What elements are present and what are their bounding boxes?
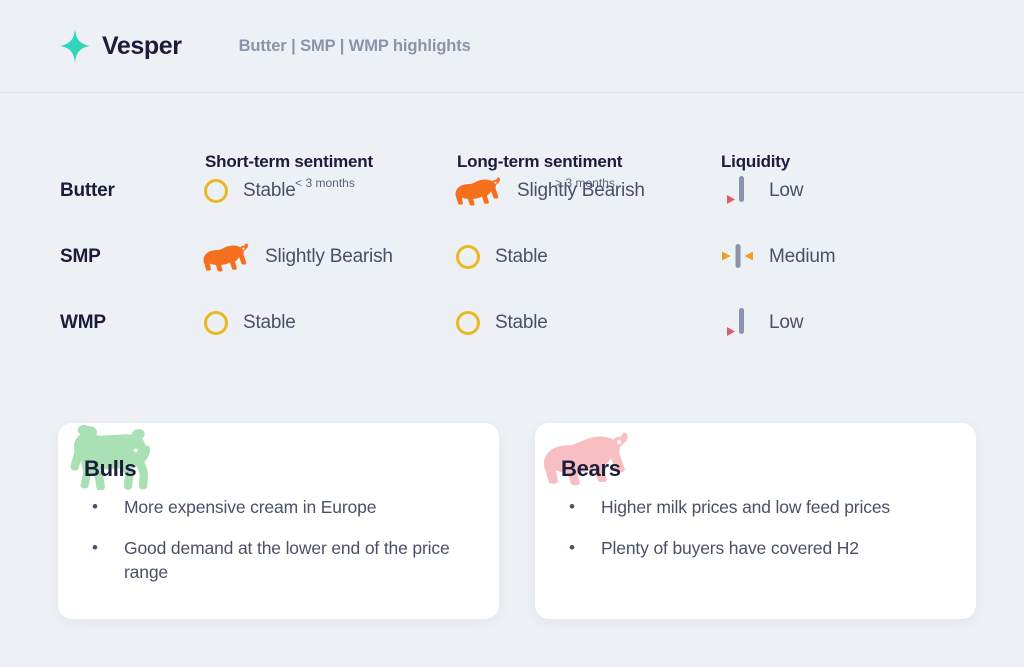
bears-card-title: Bears <box>561 456 621 482</box>
cell-text-butter-short-term: Stable <box>243 180 296 202</box>
row-label-cell: SMP <box>0 246 195 268</box>
bears-item-text: Plenty of buyers have covered H2 <box>601 536 946 561</box>
cell-smp-liquidity: Medium <box>713 235 913 279</box>
bullet-glyph: • <box>563 536 601 560</box>
cell-text-butter-liquidity: Low <box>769 180 803 202</box>
stable-circle-icon <box>455 310 481 336</box>
row-label-butter: Butter <box>60 180 115 201</box>
bulls-card-title: Bulls <box>84 456 136 482</box>
app-header: Vesper Butter | SMP | WMP highlights <box>0 0 1024 93</box>
bullet-glyph: • <box>563 495 601 519</box>
brand-name: Vesper <box>102 34 182 59</box>
cell-butter-short-term: Stable <box>195 169 445 213</box>
cell-wmp-short-term: Stable <box>195 301 445 345</box>
matrix-header-row: Short-term sentiment < 3 months Long-ter… <box>0 93 1024 158</box>
stable-circle-icon <box>203 178 229 204</box>
sparkle-star-icon <box>60 29 90 63</box>
stable-circle-icon <box>203 310 229 336</box>
bears-item-text: Higher milk prices and low feed prices <box>601 495 946 520</box>
table-row: SMP Slightly Bearish Stable <box>0 224 1024 290</box>
insight-cards: Bulls • More expensive cream in Europe •… <box>58 423 976 619</box>
list-item: • More expensive cream in Europe <box>86 495 469 520</box>
cell-text-wmp-liquidity: Low <box>769 312 803 334</box>
header-subtitle: Butter | SMP | WMP highlights <box>239 37 471 56</box>
cell-text-butter-long-term: Slightly Bearish <box>517 180 645 202</box>
cell-wmp-liquidity: Low <box>713 301 913 345</box>
row-label-smp: SMP <box>60 246 101 267</box>
row-label-cell: WMP <box>0 312 195 334</box>
bear-icon <box>455 176 507 206</box>
cell-text-wmp-short-term: Stable <box>243 312 296 334</box>
liquidity-low-icon <box>721 305 753 341</box>
bulls-item-text: Good demand at the lower end of the pric… <box>124 536 469 585</box>
list-item: • Good demand at the lower end of the pr… <box>86 536 469 585</box>
brand-logo[interactable]: Vesper <box>60 29 182 63</box>
bulls-card-list: • More expensive cream in Europe • Good … <box>58 495 499 585</box>
liquidity-medium-icon <box>721 239 753 275</box>
cell-wmp-long-term: Stable <box>445 301 713 345</box>
bullet-glyph: • <box>86 536 124 560</box>
table-row: WMP Stable Stable <box>0 290 1024 356</box>
cell-butter-long-term: Slightly Bearish <box>445 169 713 213</box>
bulls-card-header: Bulls <box>58 423 499 495</box>
row-label-wmp: WMP <box>60 312 106 333</box>
bears-card-list: • Higher milk prices and low feed prices… <box>535 495 976 560</box>
cell-text-smp-long-term: Stable <box>495 246 548 268</box>
bears-card: Bears • Higher milk prices and low feed … <box>535 423 976 619</box>
bullet-glyph: • <box>86 495 124 519</box>
list-item: • Plenty of buyers have covered H2 <box>563 536 946 561</box>
row-label-cell: Butter <box>0 180 195 202</box>
sentiment-matrix: Short-term sentiment < 3 months Long-ter… <box>0 93 1024 356</box>
bears-card-header: Bears <box>535 423 976 495</box>
cell-smp-short-term: Slightly Bearish <box>195 235 445 279</box>
stable-circle-icon <box>455 244 481 270</box>
cell-text-smp-liquidity: Medium <box>769 246 835 268</box>
cell-text-smp-short-term: Slightly Bearish <box>265 246 393 268</box>
bear-icon <box>203 242 255 272</box>
cell-butter-liquidity: Low <box>713 169 913 213</box>
list-item: • Higher milk prices and low feed prices <box>563 495 946 520</box>
liquidity-low-icon <box>721 173 753 209</box>
bulls-card: Bulls • More expensive cream in Europe •… <box>58 423 499 619</box>
cell-smp-long-term: Stable <box>445 235 713 279</box>
cell-text-wmp-long-term: Stable <box>495 312 548 334</box>
bulls-item-text: More expensive cream in Europe <box>124 495 469 520</box>
